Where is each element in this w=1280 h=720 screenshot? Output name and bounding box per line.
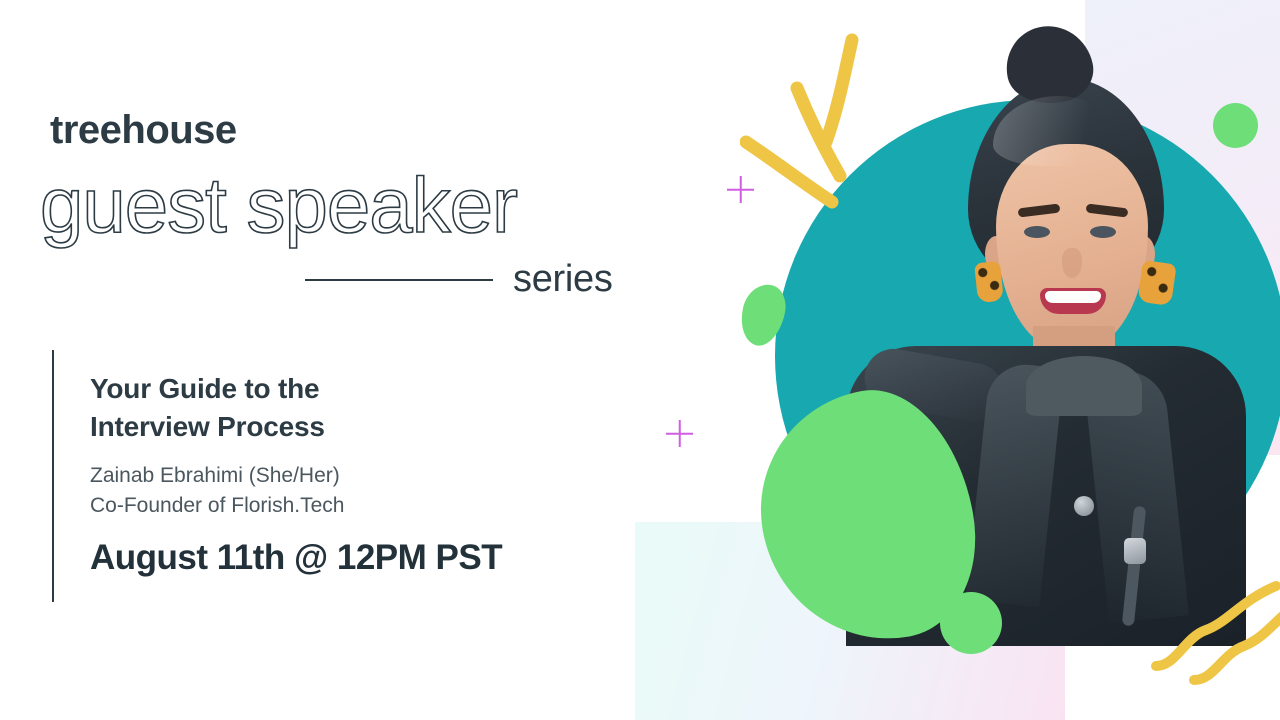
series-label: series <box>513 258 613 301</box>
green-circle-bottom <box>940 592 1002 654</box>
green-circle-topright <box>1213 103 1258 148</box>
teeth-shape <box>1045 291 1101 303</box>
mouth-shape <box>1040 288 1106 314</box>
plus-mark-icon-upper <box>727 176 754 203</box>
earring-left-shape <box>974 261 1004 303</box>
yellow-rays-icon <box>740 30 900 220</box>
headline-outline-text: guest speaker <box>40 160 517 251</box>
earring-right-shape <box>1137 260 1177 306</box>
event-title: Your Guide to the Interview Process <box>90 370 610 447</box>
eye-right-shape <box>1090 226 1116 238</box>
brand-wordmark: treehouse <box>50 108 237 153</box>
event-title-line-1: Your Guide to the <box>90 373 319 404</box>
jacket-stud-shape <box>1074 496 1094 516</box>
series-row: series <box>305 258 613 301</box>
event-date-time: August 11th @ 12PM PST <box>90 538 610 578</box>
speaker-role: Co-Founder of Florish.Tech <box>90 494 344 517</box>
vertical-divider-rule <box>52 350 54 602</box>
plus-mark-icon-lower <box>666 420 693 447</box>
event-speaker-block: Zainab Ebrahimi (She/Her) Co-Founder of … <box>90 461 610 521</box>
event-info-block: Your Guide to the Interview Process Zain… <box>90 370 610 578</box>
event-title-line-2: Interview Process <box>90 411 325 442</box>
jacket-zipper-pull-shape <box>1124 538 1146 564</box>
series-divider-rule <box>305 279 493 281</box>
eye-left-shape <box>1024 226 1050 238</box>
promo-slide: treehouse guest speaker series Your Guid… <box>0 0 1280 720</box>
jacket-collar-shape <box>1026 356 1142 416</box>
yellow-waves-icon <box>1150 580 1280 690</box>
speaker-name: Zainab Ebrahimi (She/Her) <box>90 464 340 487</box>
nose-shape <box>1062 248 1082 278</box>
face-shape <box>996 144 1148 350</box>
